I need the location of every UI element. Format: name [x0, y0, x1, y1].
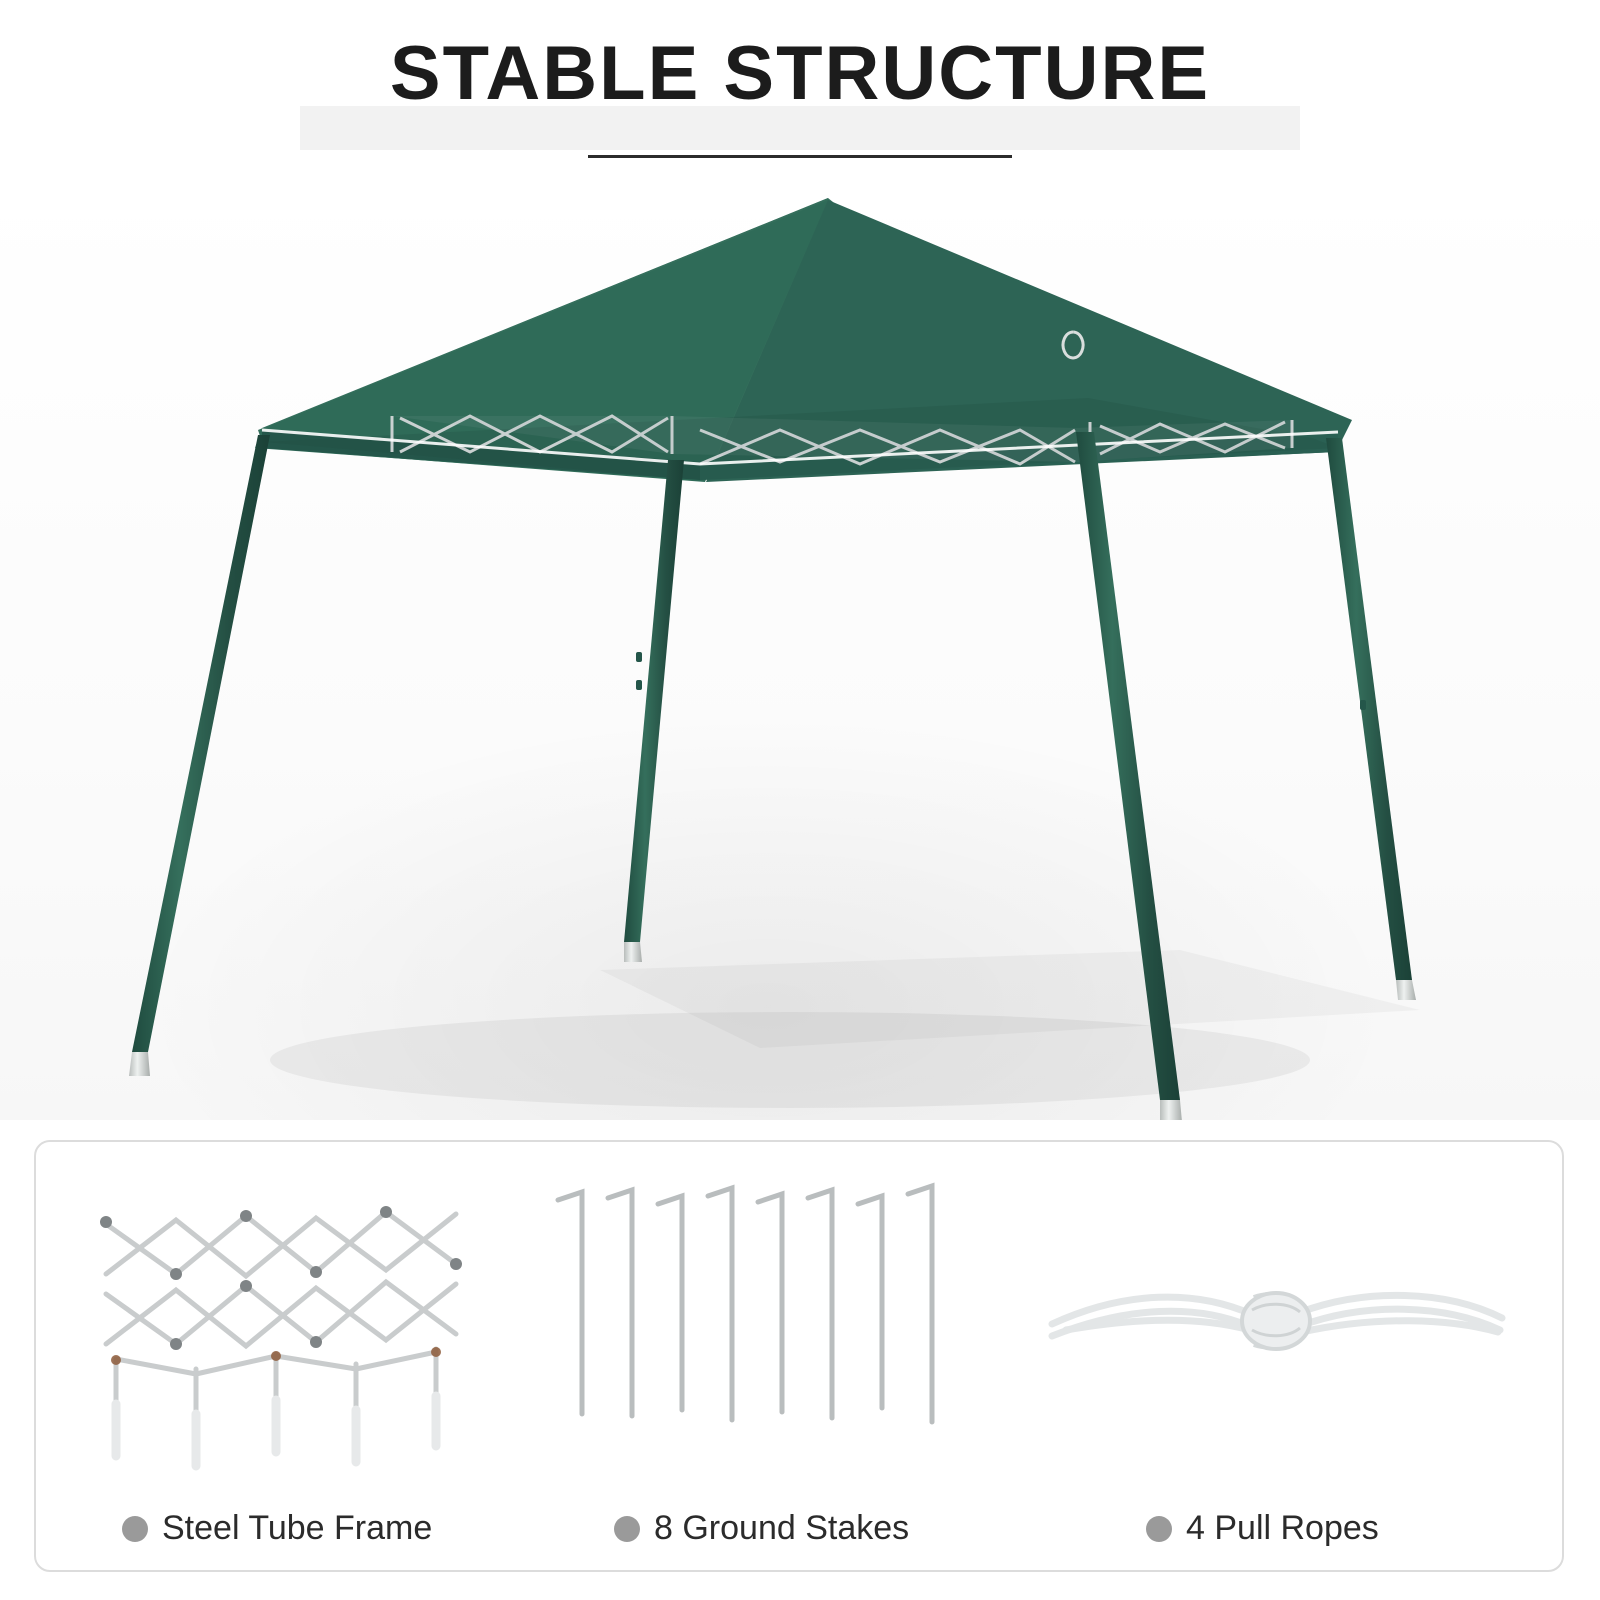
accessories-panel: Steel Tube Frame 8 Ground Stakes 4 Pull …	[34, 1140, 1564, 1572]
canopy-leg-center	[624, 460, 684, 942]
bullet-dot-icon	[614, 1516, 640, 1542]
leg-lock-nubs	[636, 652, 1366, 710]
accessory-label-stakes: 8 Ground Stakes	[614, 1509, 909, 1548]
canopy-illustration	[0, 180, 1600, 1120]
page-title: STABLE STRUCTURE	[0, 28, 1600, 120]
hero-product-image	[0, 180, 1600, 1120]
bullet-dot-icon	[122, 1516, 148, 1542]
canopy-leg-right	[1326, 438, 1412, 980]
bullet-dot-icon	[1146, 1516, 1172, 1542]
canopy-leg-foot-right-mid	[1160, 1100, 1182, 1120]
canopy-leg-foot-left	[129, 1052, 150, 1076]
rope-knot	[1242, 1293, 1310, 1349]
title-underline-rule	[588, 155, 1012, 158]
steel-frame-icon	[86, 1164, 506, 1484]
page-title-block: STABLE STRUCTURE	[0, 28, 1600, 120]
accessory-label-text: 4 Pull Ropes	[1186, 1509, 1379, 1548]
accessory-label-ropes: 4 Pull Ropes	[1146, 1509, 1379, 1548]
canopy-leg-left	[132, 435, 270, 1052]
pull-rope-icon	[1036, 1232, 1516, 1412]
accessory-label-frame: Steel Tube Frame	[122, 1509, 432, 1548]
ground-stake-icon	[536, 1164, 956, 1484]
accessory-label-text: 8 Ground Stakes	[654, 1509, 909, 1548]
canopy-leg-foot-center	[624, 942, 642, 962]
accessory-label-text: Steel Tube Frame	[162, 1509, 432, 1548]
canopy-leg-foot-right	[1396, 980, 1416, 1000]
